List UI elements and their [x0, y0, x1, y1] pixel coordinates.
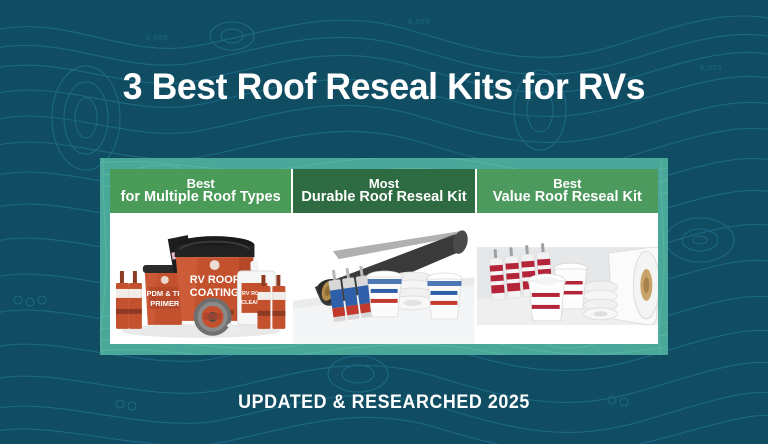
footer-text: UPDATED & RESEARCHED 2025	[23, 392, 745, 414]
card-3-product-image	[477, 213, 658, 344]
card-3-header-line2: Value Roof Reseal Kit	[493, 190, 642, 205]
card-1-header-line1: Best	[187, 177, 215, 191]
card-2-header-line2: Durable Roof Reseal Kit	[301, 190, 466, 205]
contour-label: 9,000	[408, 19, 431, 26]
contour-elevation-labels: 9,000 9,000 9,000	[146, 19, 723, 72]
poster-root: 9,000 9,000 9,000 3 Best Roof Reseal Kit…	[0, 0, 768, 444]
card-3-header-line1: Best	[553, 177, 581, 191]
svg-text:RV ROOF: RV ROOF	[190, 274, 240, 286]
card-3-header: Best Value Roof Reseal Kit	[477, 169, 658, 213]
card-1-header: Best for Multiple Roof Types	[110, 169, 291, 213]
card-2-header-line1: Most	[369, 177, 399, 191]
product-card-1[interactable]: Best for Multiple Roof Types	[110, 169, 291, 344]
card-1-product-image: EPDM & TPO PRIMER	[110, 213, 291, 344]
product-card-3[interactable]: Best Value Roof Reseal Kit	[477, 169, 658, 344]
product-card-list: Best for Multiple Roof Types	[110, 169, 658, 344]
svg-text:PRIMER: PRIMER	[150, 299, 180, 308]
contour-label: 9,000	[146, 35, 169, 42]
product-panel-frame: Best for Multiple Roof Types	[100, 158, 668, 355]
page-title: 3 Best Roof Reseal Kits for RVs	[15, 68, 752, 105]
svg-text:COATING: COATING	[190, 287, 240, 299]
card-1-header-line2: for Multiple Roof Types	[121, 190, 281, 205]
card-2-product-image	[293, 213, 474, 344]
product-card-2[interactable]: Most Durable Roof Reseal Kit	[293, 169, 474, 344]
card-2-header: Most Durable Roof Reseal Kit	[293, 169, 474, 213]
